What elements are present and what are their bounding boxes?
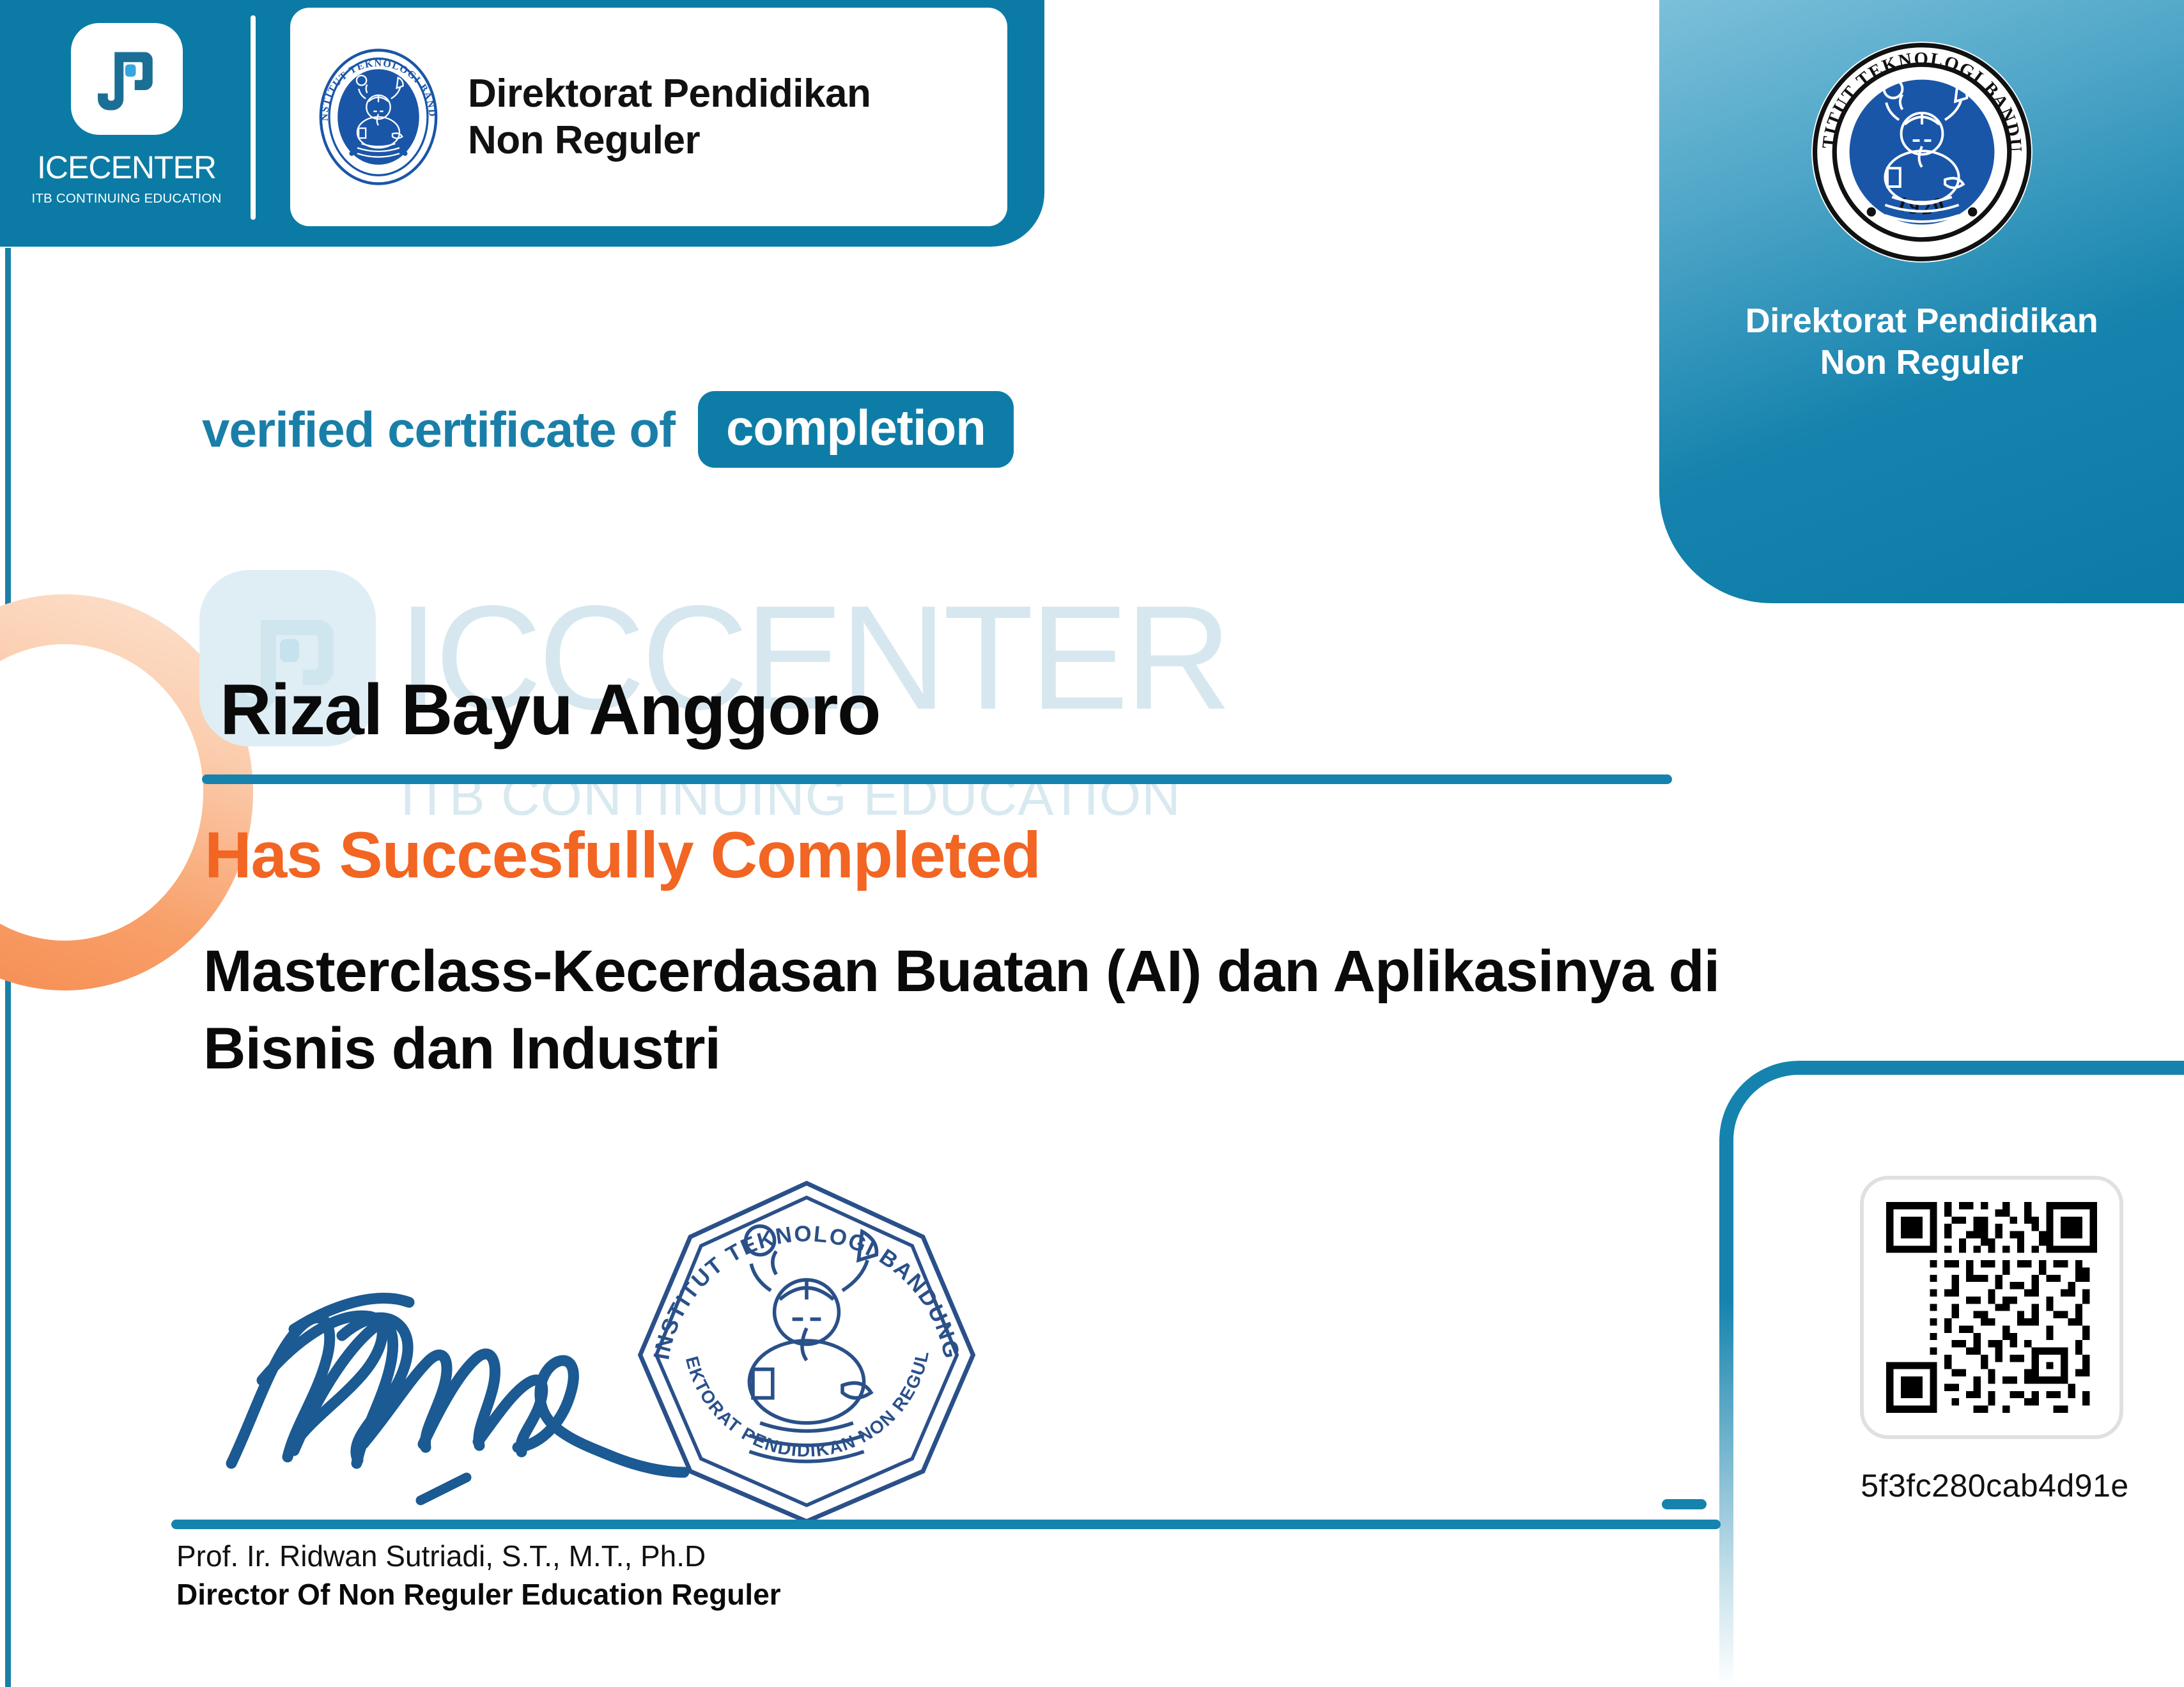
header-divider xyxy=(251,15,256,220)
completion-status-text: Has Succesfully Completed xyxy=(205,818,1041,893)
recipient-name: Rizal Bayu Anggoro xyxy=(220,668,880,751)
top-right-org-line1: Direktorat Pendidikan xyxy=(1746,300,2098,342)
course-title: Masterclass-Kecerdasan Buatan (AI) dan A… xyxy=(203,933,1814,1088)
header-org-line1: Direktorat Pendidikan xyxy=(468,70,871,117)
top-right-org-panel: INSTITUT TEKNOLOGI BANDUNG 1920 Direktor… xyxy=(1659,0,2184,603)
signatory-role: Director Of Non Reguler Education Regule… xyxy=(176,1577,781,1612)
official-stamp: INSTITUT TEKNOLOGI BANDUNG DIREKTORAT PE… xyxy=(628,1171,986,1529)
itb-seal-icon: INSTITUT TEKNOLOGI BANDU 1920 xyxy=(308,47,449,187)
right-tick-decoration xyxy=(1662,1499,1707,1509)
header-org-card: INSTITUT TEKNOLOGI BANDU 1920 xyxy=(290,8,1007,226)
orange-ring-decoration xyxy=(0,594,253,990)
recipient-underline xyxy=(202,774,1672,784)
header-band: ICECENTER ITB CONTINUING EDUCATION INSTI… xyxy=(0,0,1044,247)
signatory-name: Prof. Ir. Ridwan Sutriadi, S.T., M.T., P… xyxy=(176,1539,706,1573)
certificate-kicker: verified certificate of completion xyxy=(202,391,1014,468)
qr-code-card[interactable] xyxy=(1860,1176,2123,1439)
header-org-line2: Non Reguler xyxy=(468,117,871,164)
top-right-org-line2: Non Reguler xyxy=(1746,342,2098,383)
completion-badge: completion xyxy=(698,391,1014,468)
watermark: ICCCENTER ITB CONTINUING EDUCATION xyxy=(192,562,2109,971)
signature-underline xyxy=(171,1520,1721,1529)
top-right-org-title: Direktorat Pendidikan Non Reguler xyxy=(1746,300,2098,383)
certificate-id: 5f3fc280cab4d91e xyxy=(1845,1467,2145,1504)
itb-seal-large-icon: INSTITUT TEKNOLOGI BANDUNG 1920 xyxy=(1807,37,2037,267)
ice-center-logo-tagline: ITB CONTINUING EDUCATION xyxy=(31,191,221,206)
ice-center-mark-icon xyxy=(71,23,183,135)
ice-center-logo: ICECENTER ITB CONTINUING EDUCATION xyxy=(31,23,222,221)
qr-code[interactable] xyxy=(1886,1202,2097,1413)
ice-center-logo-name: ICECENTER xyxy=(37,149,216,186)
header-org-title: Direktorat Pendidikan Non Reguler xyxy=(468,70,871,164)
certificate-kicker-label: verified certificate of xyxy=(202,401,675,459)
